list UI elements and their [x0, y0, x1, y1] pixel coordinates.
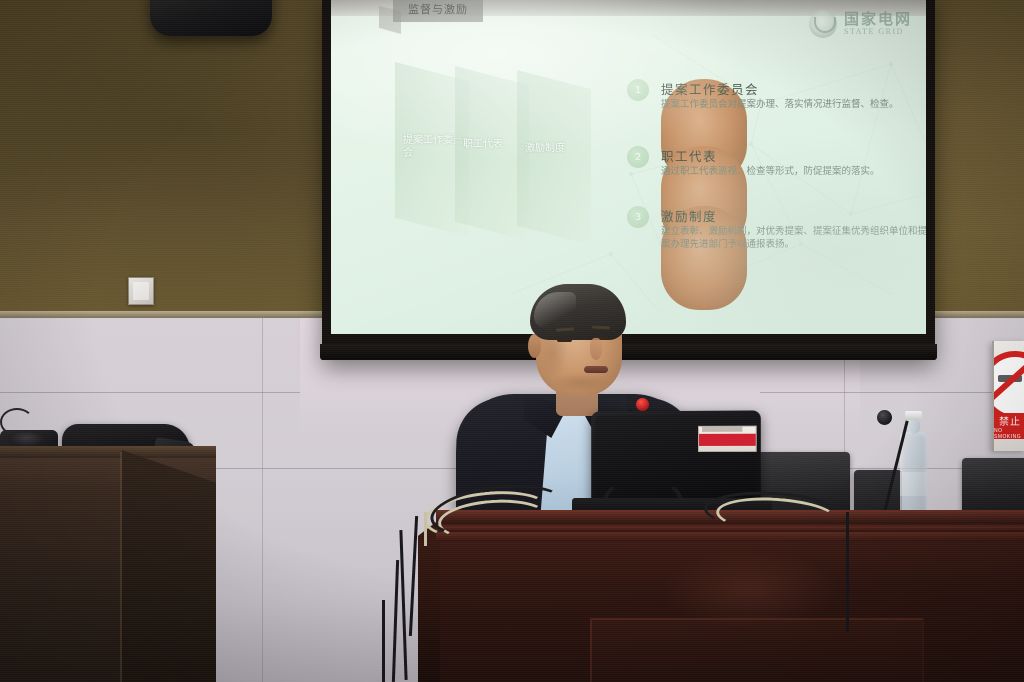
- bullet-body: 建立表彰、激励机制，对优秀提案、提案征集优秀组织单位和提案办理先进部门予以通报表…: [661, 225, 926, 251]
- chevron-face: [517, 70, 591, 245]
- cable-drop: [846, 512, 849, 632]
- eye: [557, 338, 572, 342]
- desk-top: [0, 446, 216, 458]
- mic-head: [877, 410, 892, 425]
- projection-screen-surface: 监督与激励 国家电网 STATE GRID 提案工作委员会 职工代表 激励: [331, 0, 926, 334]
- laptop-sticker: [698, 426, 757, 452]
- podium: [440, 510, 1024, 682]
- slide-title-tab: 监督与激励: [393, 0, 483, 22]
- speaker-grill: [168, 0, 242, 2]
- cable-drop: [424, 512, 427, 546]
- bullet-number: 2: [627, 146, 649, 168]
- bullet-number: 3: [627, 206, 649, 228]
- bullet-body: 通过职工代表巡视、检查等形式，防促提案的落实。: [661, 165, 926, 178]
- equipment-dial: [8, 432, 44, 446]
- bottle-neck: [907, 418, 920, 434]
- wall-panel-seam: [760, 392, 1024, 393]
- chevron-label: 职工代表: [463, 138, 525, 151]
- bottle-cap: [905, 411, 922, 420]
- chin-shading: [552, 372, 610, 392]
- wall-speaker: [150, 0, 272, 36]
- podium-front-panel: [590, 618, 924, 682]
- side-desk: [0, 452, 216, 682]
- desk-side-panel: [122, 450, 216, 682]
- state-grid-logo: 国家电网 STATE GRID: [809, 10, 912, 38]
- desk-edge: [120, 452, 122, 682]
- wall-panel-seam: [0, 392, 300, 393]
- light-switch[interactable]: [128, 277, 154, 305]
- photo-scene: 监督与激励 国家电网 STATE GRID 提案工作委员会 职工代表 激励: [0, 0, 1024, 682]
- brand-name-cn: 国家电网: [844, 12, 912, 28]
- mic-head: [636, 398, 649, 411]
- no-smoking-sign: 禁止 NO SMOKING: [992, 341, 1024, 451]
- cable-drop: [382, 600, 385, 682]
- state-grid-emblem-icon: [809, 10, 837, 38]
- wall-panel-seam: [262, 318, 263, 682]
- mic-gooseneck: [882, 421, 909, 517]
- bullet-body: 提案工作委员会对提案办理、落实情况进行监督、检查。: [661, 98, 926, 111]
- slide-title-text: 监督与激励: [408, 1, 468, 17]
- gooseneck-microphone: [836, 400, 906, 520]
- chevron-label: 激励制度: [525, 142, 587, 155]
- brand-name-en: STATE GRID: [844, 28, 912, 36]
- no-smoking-band: 禁止 NO SMOKING: [994, 413, 1024, 439]
- no-smoking-text-cn: 禁止: [999, 413, 1021, 428]
- nose: [590, 338, 602, 360]
- no-smoking-text-en: NO SMOKING: [994, 428, 1024, 440]
- chevron-panel: 激励制度: [517, 70, 591, 245]
- bullet-number: 1: [627, 79, 649, 101]
